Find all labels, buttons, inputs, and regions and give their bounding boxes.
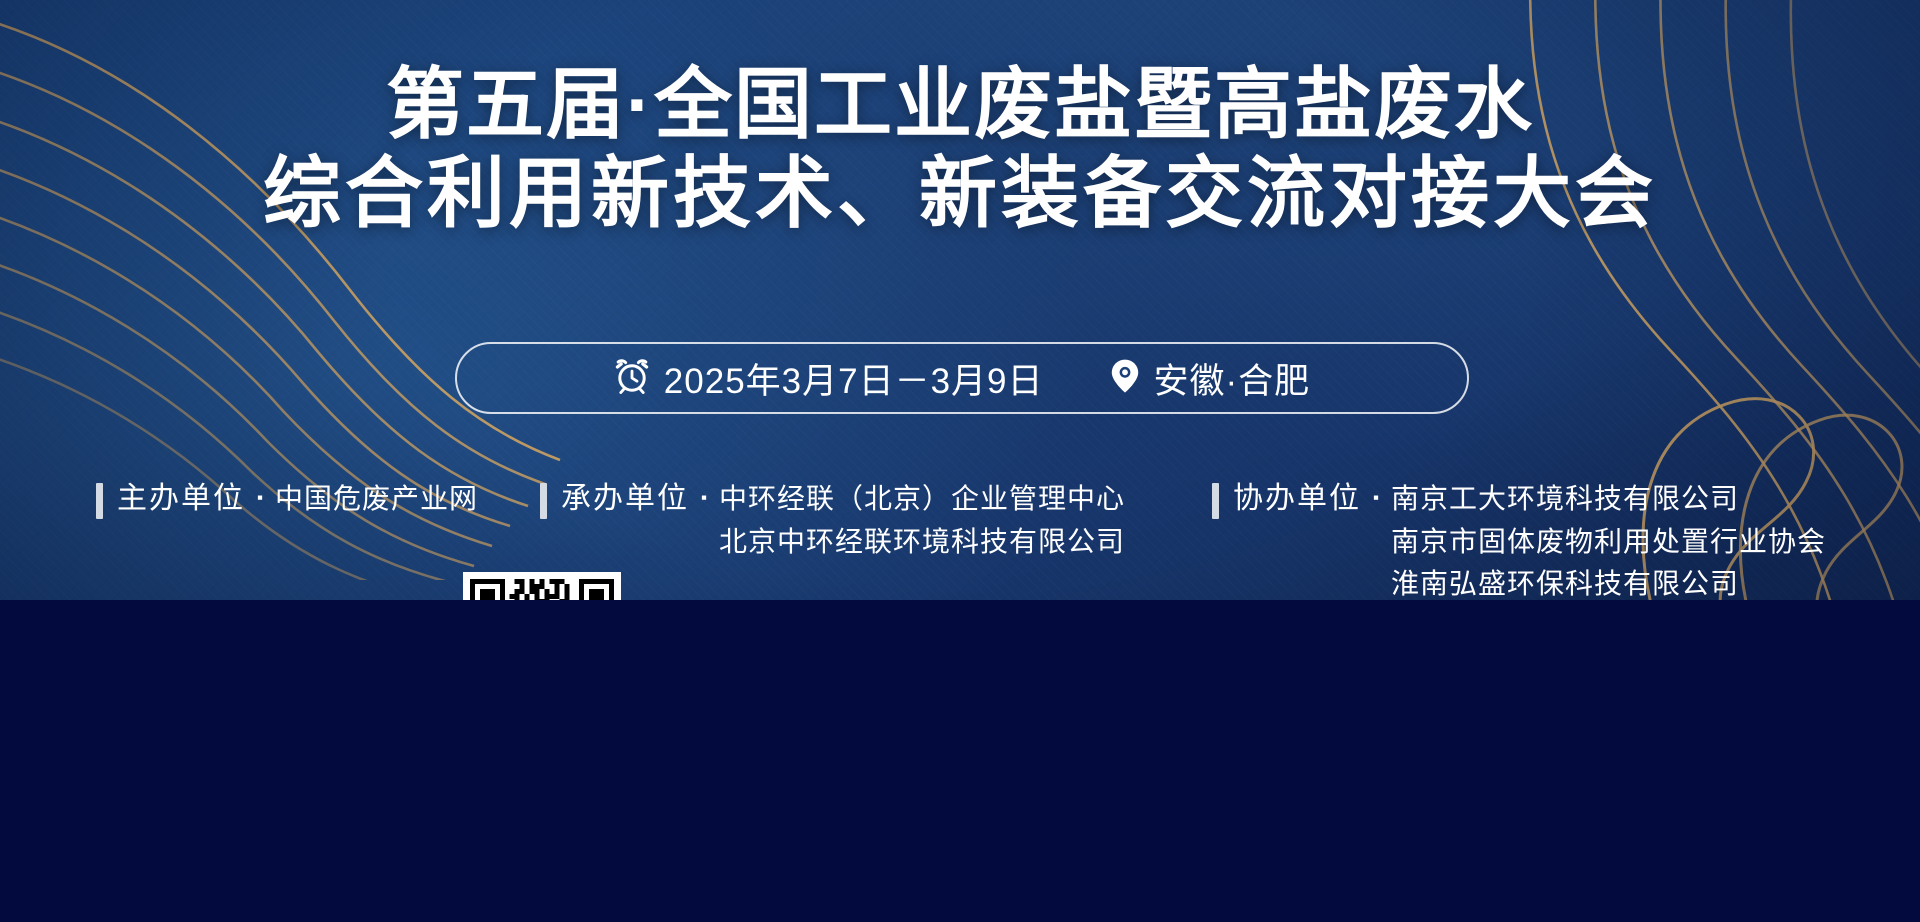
organizer-accent-bar xyxy=(540,483,547,519)
organizer-label: 承办单位 xyxy=(561,478,689,521)
organizers-section: 主办单位 ▪ 中国危废产业网 承办单位 ▪ 中环经联（北京）企业管理中心 北京中… xyxy=(0,478,1920,598)
organizer-block-coorganizer: 承办单位 ▪ 中环经联（北京）企业管理中心 北京中环经联环境科技有限公司 xyxy=(540,478,1125,563)
title-line-2: 综合利用新技术、新装备交流对接大会 xyxy=(0,149,1920,238)
conference-banner: 第五届·全国工业废盐暨高盐废水 综合利用新技术、新装备交流对接大会 xyxy=(0,0,1920,600)
organizer-bullet-icon: ▪ xyxy=(1373,489,1379,506)
map-pin-icon xyxy=(1110,358,1140,399)
organizer-value: 南京市固体废物利用处置行业协会 xyxy=(1391,521,1826,564)
organizer-bullet-icon: ▪ xyxy=(701,489,707,506)
organizer-label: 主办单位 xyxy=(117,478,245,521)
event-date-text: 2025年3月7日－3月9日 xyxy=(664,353,1044,404)
organizer-value: 南京工大环境科技有限公司 xyxy=(1391,478,1826,521)
page-lower-background xyxy=(0,600,1920,922)
organizer-block-host: 主办单位 ▪ 中国危废产业网 xyxy=(96,478,478,521)
organizer-label: 协办单位 xyxy=(1233,478,1361,521)
banner-title-block: 第五届·全国工业废盐暨高盐废水 综合利用新技术、新装备交流对接大会 xyxy=(0,60,1920,238)
qr-code-image[interactable] xyxy=(463,572,621,600)
organizer-value: 淮南弘盛环保科技有限公司 xyxy=(1391,563,1826,600)
organizer-value: 中国危废产业网 xyxy=(275,478,478,521)
organizer-bullet-icon: ▪ xyxy=(257,489,263,506)
organizer-accent-bar xyxy=(1212,483,1219,519)
organizer-value-list: 中国危废产业网 xyxy=(275,478,478,521)
event-info-pill: 2025年3月7日－3月9日 安徽·合肥 xyxy=(455,342,1469,414)
organizer-block-supporter: 协办单位 ▪ 南京工大环境科技有限公司 南京市固体废物利用处置行业协会 淮南弘盛… xyxy=(1212,478,1826,600)
event-location-item: 安徽·合肥 xyxy=(1110,353,1311,404)
organizer-value-list: 中环经联（北京）企业管理中心 北京中环经联环境科技有限公司 xyxy=(719,478,1125,563)
alarm-clock-icon xyxy=(614,358,650,399)
event-location-text: 安徽·合肥 xyxy=(1154,353,1311,404)
organizer-accent-bar xyxy=(96,483,103,519)
organizer-value: 中环经联（北京）企业管理中心 xyxy=(719,478,1125,521)
title-line-1: 第五届·全国工业废盐暨高盐废水 xyxy=(0,60,1920,149)
organizer-value-list: 南京工大环境科技有限公司 南京市固体废物利用处置行业协会 淮南弘盛环保科技有限公… xyxy=(1391,478,1826,600)
page-root: 第五届·全国工业废盐暨高盐废水 综合利用新技术、新装备交流对接大会 xyxy=(0,0,1920,922)
organizer-value: 北京中环经联环境科技有限公司 xyxy=(719,521,1125,564)
event-date-item: 2025年3月7日－3月9日 xyxy=(614,353,1044,404)
